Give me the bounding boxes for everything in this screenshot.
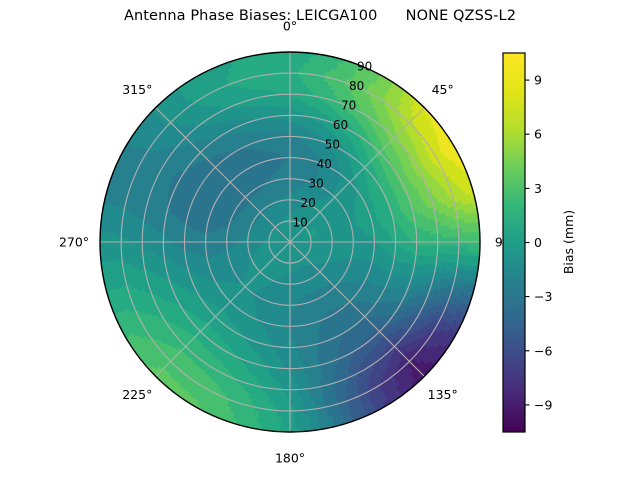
figure-canvas: Antenna Phase Biases: LEICGA100 NONE QZS… bbox=[0, 0, 640, 480]
polar-plot: 0°45°90°135°180°225°270°315° 10203040506… bbox=[0, 0, 640, 480]
